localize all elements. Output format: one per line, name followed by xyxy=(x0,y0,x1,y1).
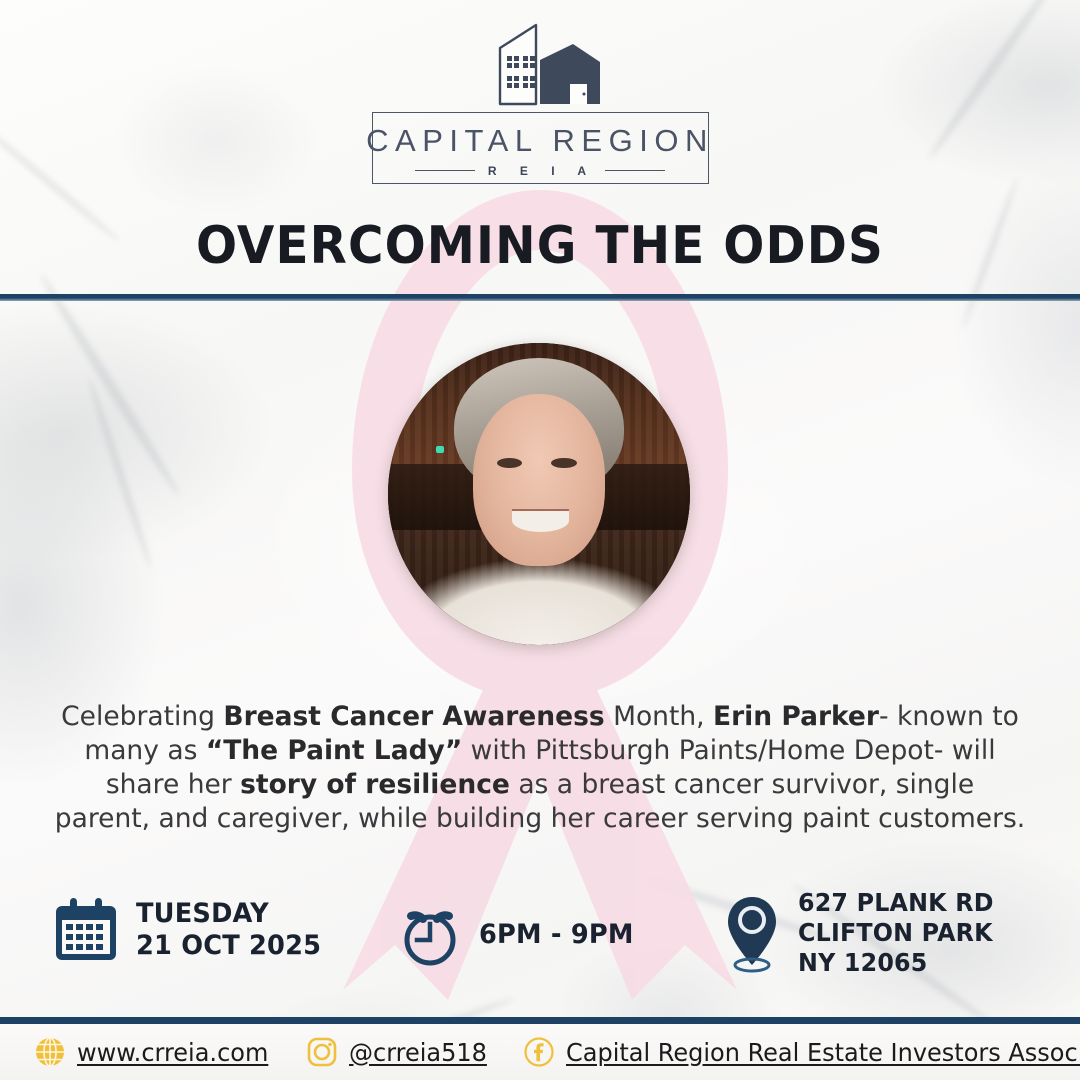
page-title: OVERCOMING THE ODDS xyxy=(38,216,1042,276)
desc-bold-1: Breast Cancer Awareness xyxy=(223,701,604,732)
header-divider xyxy=(0,294,1080,301)
calendar-icon xyxy=(52,896,120,964)
website-label[interactable]: www.crreia.com xyxy=(77,1038,268,1067)
brand-logo: CAPITAL REGION R E I A xyxy=(0,22,1080,184)
desc-bold-2: Erin Parker xyxy=(713,701,879,732)
desc-bold-4: story of resilience xyxy=(240,769,510,800)
speaker-portrait xyxy=(388,343,690,645)
house-logo-icon xyxy=(478,22,602,114)
logo-frame: CAPITAL REGION R E I A xyxy=(372,112,709,184)
footer-website[interactable]: www.crreia.com xyxy=(34,1036,276,1068)
event-description: Celebrating Breast Cancer Awareness Mont… xyxy=(54,700,1026,836)
facebook-icon xyxy=(523,1036,555,1068)
desc-text-2: Month, xyxy=(605,701,713,732)
event-time: 6PM - 9PM xyxy=(397,902,642,968)
instagram-icon xyxy=(306,1036,338,1068)
event-time-range: 6PM - 9PM xyxy=(479,919,634,951)
desc-text-1: Celebrating xyxy=(61,701,223,732)
event-location: 627 PLANK RD CLIFTON PARK NY 12065 xyxy=(722,888,1004,978)
clock-icon xyxy=(397,902,463,968)
footer-bar: www.crreia.com @crreia518 Capital Region… xyxy=(0,1017,1080,1080)
marble-vein xyxy=(37,272,183,498)
logo-subtitle: R E I A xyxy=(484,164,596,178)
location-street: 627 PLANK RD xyxy=(798,888,994,918)
logo-rule-right xyxy=(605,170,665,171)
globe-icon xyxy=(34,1036,66,1068)
event-flyer: CAPITAL REGION R E I A OVERCOMING THE OD… xyxy=(0,0,1080,1080)
location-city: CLIFTON PARK xyxy=(798,918,994,948)
logo-name: CAPITAL REGION xyxy=(366,123,714,159)
facebook-label[interactable]: Capital Region Real Estate Investors Ass… xyxy=(566,1038,1080,1067)
logo-rule-left xyxy=(415,170,475,171)
event-date-day: TUESDAY xyxy=(136,898,321,930)
event-details-row: TUESDAY 21 OCT 2025 6PM - 9PM 627 P xyxy=(0,888,1080,998)
event-date: TUESDAY 21 OCT 2025 xyxy=(52,896,331,964)
instagram-label[interactable]: @crreia518 xyxy=(349,1038,487,1067)
map-pin-icon xyxy=(722,889,782,977)
location-state-zip: NY 12065 xyxy=(798,948,994,978)
event-date-full: 21 OCT 2025 xyxy=(136,930,321,962)
desc-bold-3: “The Paint Lady” xyxy=(206,735,462,766)
footer-instagram[interactable]: @crreia518 xyxy=(306,1036,493,1068)
footer-facebook[interactable]: Capital Region Real Estate Investors Ass… xyxy=(523,1036,1080,1068)
